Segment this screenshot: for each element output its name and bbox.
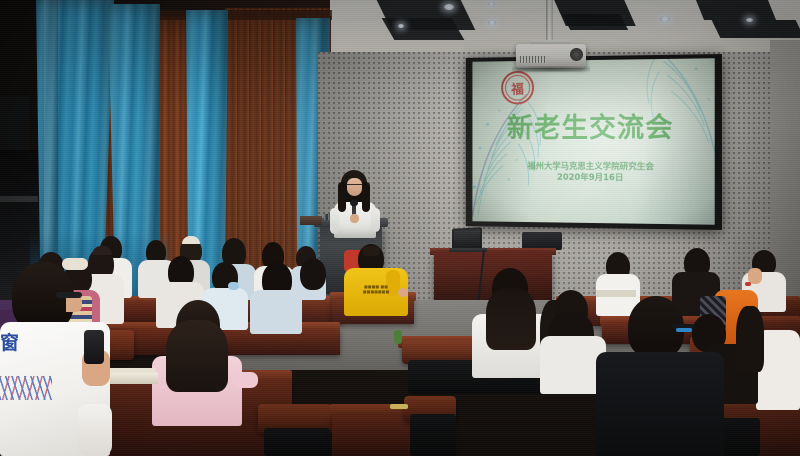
presenter-hair-right <box>362 182 370 212</box>
projection-screen[interactable]: 福 新老生交流会 福州大学马克思主义学院研究生会 2020年9月16日 <box>472 58 714 225</box>
ceiling-downlight <box>488 20 496 25</box>
laptop-screen <box>454 229 480 247</box>
projector-lens <box>570 48 583 61</box>
presenter-arm-left <box>330 208 339 234</box>
eyeglasses-icon <box>56 292 82 298</box>
water-bottle[interactable] <box>394 330 402 344</box>
ceiling-panel <box>696 0 776 20</box>
ceiling-panel <box>382 18 465 40</box>
attendee-long-hair <box>736 306 764 372</box>
eyeglasses-temple <box>676 328 692 332</box>
auditorium-photo: 福 新老生交流会 福州大学马克思主义学院研究生会 2020年9月16日 <box>0 0 800 456</box>
doorway-upper <box>0 96 30 154</box>
attendee-arm <box>232 372 258 388</box>
ceiling-downlight <box>444 4 454 10</box>
laptop-base <box>449 248 487 252</box>
ceiling-panel <box>562 14 629 30</box>
door-frame <box>0 196 38 202</box>
phone-device[interactable] <box>84 330 104 364</box>
ceiling-downlight <box>746 18 753 22</box>
chair-seat <box>410 414 456 456</box>
eyeglasses-icon <box>347 184 362 187</box>
presenter-arm-right <box>371 208 380 232</box>
notebook[interactable] <box>596 290 636 297</box>
attendee-black-tee-torso <box>596 352 724 456</box>
attendee-hand <box>398 288 408 297</box>
attendee-curly-hair <box>166 320 228 392</box>
presenter-hand <box>350 214 359 223</box>
attendee-ear <box>66 296 82 312</box>
tshirt-graphic: 窗 <box>0 332 56 376</box>
microphone-head <box>350 200 358 206</box>
tshirt-graphic-detail <box>0 376 52 400</box>
chair-seat <box>264 428 330 456</box>
slide-shading <box>472 58 714 225</box>
presenter-face <box>347 178 362 196</box>
hair-bun-icon <box>362 246 380 256</box>
hair-clip-icon <box>182 236 200 244</box>
hair-scrunchie-icon <box>62 258 88 270</box>
podium-side-desk <box>300 216 322 225</box>
ceiling-downlight <box>398 24 404 28</box>
projector-vent <box>520 56 546 63</box>
face-mask-icon <box>228 282 239 290</box>
ceiling-downlight <box>488 2 495 6</box>
attendee-long-hair <box>486 288 536 350</box>
presenter-hair-left <box>338 182 346 212</box>
tshirt-graphic: ■■■■ ■■■■■■■■■ <box>358 284 394 298</box>
floor-object <box>390 404 408 409</box>
projector-mount-pole <box>546 0 553 44</box>
projector-shadow <box>512 66 590 72</box>
list-item <box>250 290 302 334</box>
list-item <box>300 258 326 290</box>
attendee-arm <box>78 404 112 456</box>
ceiling-panel <box>712 20 800 38</box>
wrist-band <box>745 282 751 286</box>
ceiling-downlight <box>660 16 670 22</box>
slide-background: 福 新老生交流会 福州大学马克思主义学院研究生会 2020年9月16日 <box>472 58 714 225</box>
hair-bun-icon <box>92 246 112 255</box>
